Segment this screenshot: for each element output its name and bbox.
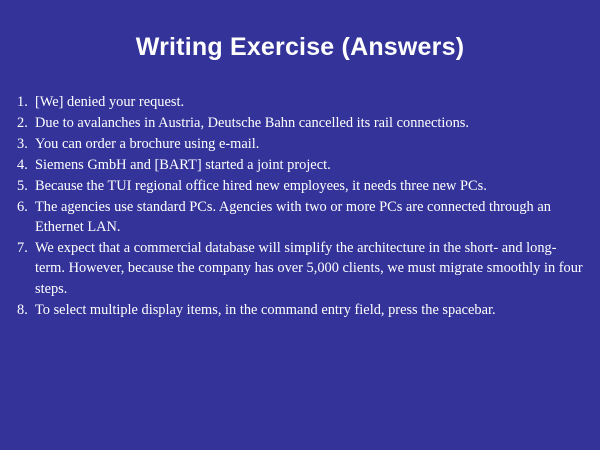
list-item-number: 7. — [17, 238, 35, 258]
list-item: 4. Siemens GmbH and [BART] started a joi… — [17, 155, 583, 175]
list-item-number: 4. — [17, 155, 35, 175]
list-item-text: [We] denied your request. — [35, 92, 583, 112]
list-item-number: 6. — [17, 197, 35, 217]
answers-list: 1. [We] denied your request. 2. Due to a… — [17, 92, 583, 320]
list-item: 5. Because the TUI regional office hired… — [17, 176, 583, 196]
list-item-text: Because the TUI regional office hired ne… — [35, 176, 583, 196]
presentation-slide: Writing Exercise (Answers) 1. [We] denie… — [0, 0, 600, 450]
list-item: 2. Due to avalanches in Austria, Deutsch… — [17, 113, 583, 133]
list-item-number: 5. — [17, 176, 35, 196]
list-item-text: Siemens GmbH and [BART] started a joint … — [35, 155, 583, 175]
list-item: 1. [We] denied your request. — [17, 92, 583, 112]
list-item-number: 8. — [17, 300, 35, 320]
list-item-number: 2. — [17, 113, 35, 133]
list-item-number: 1. — [17, 92, 35, 112]
list-item-text: We expect that a commercial database wil… — [35, 238, 583, 299]
list-item: 3. You can order a brochure using e-mail… — [17, 134, 583, 154]
list-item: 6. The agencies use standard PCs. Agenci… — [17, 197, 583, 238]
list-item-text: You can order a brochure using e-mail. — [35, 134, 583, 154]
list-item-text: The agencies use standard PCs. Agencies … — [35, 197, 583, 238]
page-title: Writing Exercise (Answers) — [0, 33, 600, 62]
list-item: 7. We expect that a commercial database … — [17, 238, 583, 299]
list-item-number: 3. — [17, 134, 35, 154]
list-item-text: Due to avalanches in Austria, Deutsche B… — [35, 113, 583, 133]
list-item-text: To select multiple display items, in the… — [35, 300, 583, 320]
list-item: 8. To select multiple display items, in … — [17, 300, 583, 320]
